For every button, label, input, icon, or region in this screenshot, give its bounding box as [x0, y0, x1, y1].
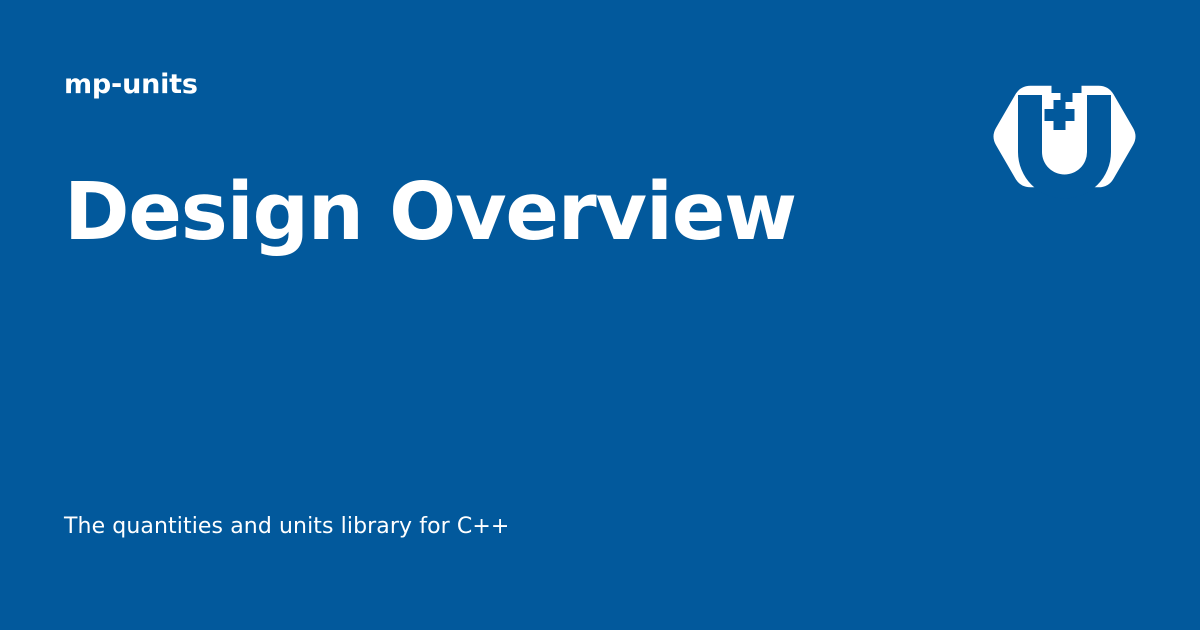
page-title: Design Overview: [64, 166, 796, 258]
brand-name: mp-units: [64, 68, 198, 102]
mp-units-logo: [992, 64, 1137, 209]
page-subtitle: The quantities and units library for C++: [64, 512, 509, 542]
social-preview-card: mp-units Design Overview The quantities …: [0, 0, 1200, 630]
logo-svg: [992, 64, 1137, 209]
